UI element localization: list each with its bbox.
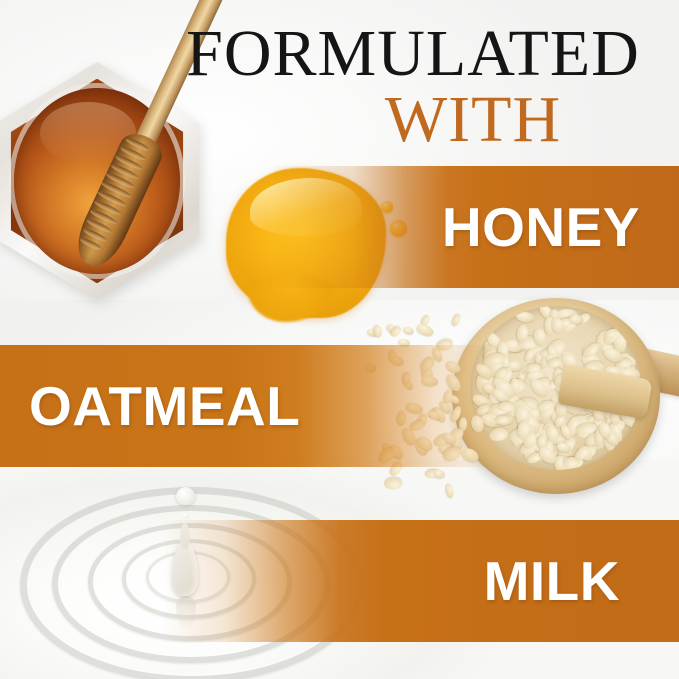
honey-label: HONEY <box>442 200 640 255</box>
milk-droplet <box>176 487 195 505</box>
formulated-with-poster: HONEY OATMEAL MILK FORMULATED WITH <box>0 0 679 679</box>
scattered-oat-flake <box>451 313 462 328</box>
oatmeal-label: OATMEAL <box>29 379 300 434</box>
milk-droplet-small <box>181 512 189 519</box>
oatmeal-label-band: OATMEAL <box>0 345 679 467</box>
scattered-oat-flake <box>384 477 403 490</box>
title-with: WITH <box>183 87 643 153</box>
scattered-oat-flake <box>415 322 436 338</box>
poster-title: FORMULATED WITH <box>183 22 643 153</box>
scattered-oat-flake <box>402 326 415 336</box>
honey-label-band: HONEY <box>0 166 679 288</box>
milk-label: MILK <box>484 554 620 609</box>
oat-flake <box>515 310 534 323</box>
milk-label-band: MILK <box>0 520 679 642</box>
scattered-oat-flake <box>433 469 445 478</box>
title-formulated: FORMULATED <box>183 22 643 85</box>
